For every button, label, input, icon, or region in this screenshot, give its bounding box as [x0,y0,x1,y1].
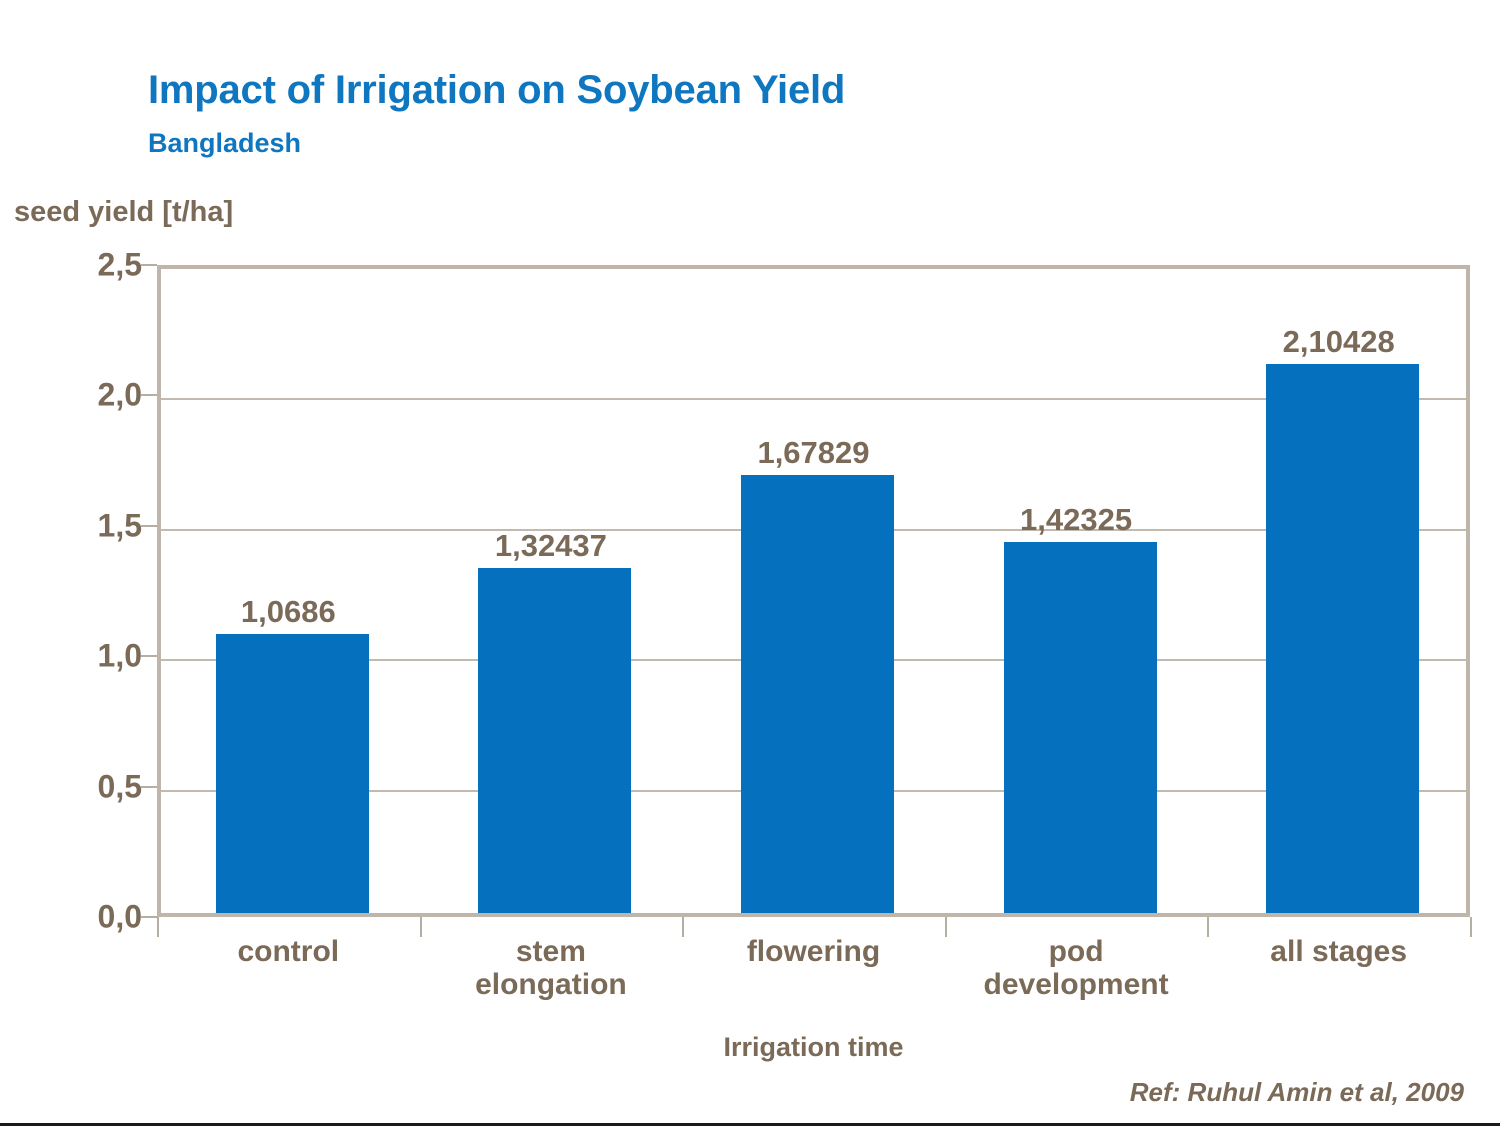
category-tick [682,917,684,937]
bar [216,634,369,913]
category-label: all stages [1207,935,1470,1035]
category-label: flowering [682,935,945,1035]
category-label-line: flowering [682,935,945,968]
reference-note: Ref: Ruhul Amin et al, 2009 [1130,1077,1464,1108]
gridline [161,920,1466,922]
x-axis-title: Irrigation time [157,1032,1470,1063]
category-tick [420,917,422,937]
x-axis-categories: controlstemelongationfloweringpoddevelop… [157,935,1470,1035]
bar-value-label: 1,32437 [444,528,657,564]
bar-value-label: 1,0686 [182,594,395,630]
y-tick-mark [141,394,157,396]
y-tick-label: 2,5 [98,247,142,284]
y-tick-label: 2,0 [98,377,142,414]
y-tick-label: 0,0 [98,899,142,936]
bar [478,568,631,913]
y-tick-mark [141,655,157,657]
y-tick-label: 1,5 [98,507,142,544]
category-label-line: control [157,935,420,968]
category-label-line: development [945,968,1208,1001]
bar-value-label: 2,10428 [1232,324,1445,360]
category-label: stemelongation [420,935,683,1035]
y-tick-label: 0,5 [98,768,142,805]
bar-value-label: 1,42325 [970,502,1183,538]
y-tick-label: 1,0 [98,638,142,675]
category-tick [945,917,947,937]
category-label-line: all stages [1207,935,1470,968]
category-label: control [157,935,420,1035]
chart-subtitle: Bangladesh [148,128,301,159]
bar [1266,364,1419,913]
category-label-line: elongation [420,968,683,1001]
y-tick-mark [141,916,157,918]
category-label: poddevelopment [945,935,1208,1035]
y-tick-mark [141,264,157,266]
bar [1004,542,1157,913]
category-tick [1207,917,1209,937]
category-label-line: stem [420,935,683,968]
category-tick [1470,917,1472,937]
y-axis-title: seed yield [t/ha] [14,196,233,229]
category-tick [157,917,159,937]
bar [741,475,894,913]
bar-value-label: 1,67829 [707,435,920,471]
y-tick-mark [141,786,157,788]
category-label-line: pod [945,935,1208,968]
page-title: Impact of Irrigation on Soybean Yield [148,68,845,113]
plot-area [157,265,1470,917]
y-tick-mark [141,525,157,527]
